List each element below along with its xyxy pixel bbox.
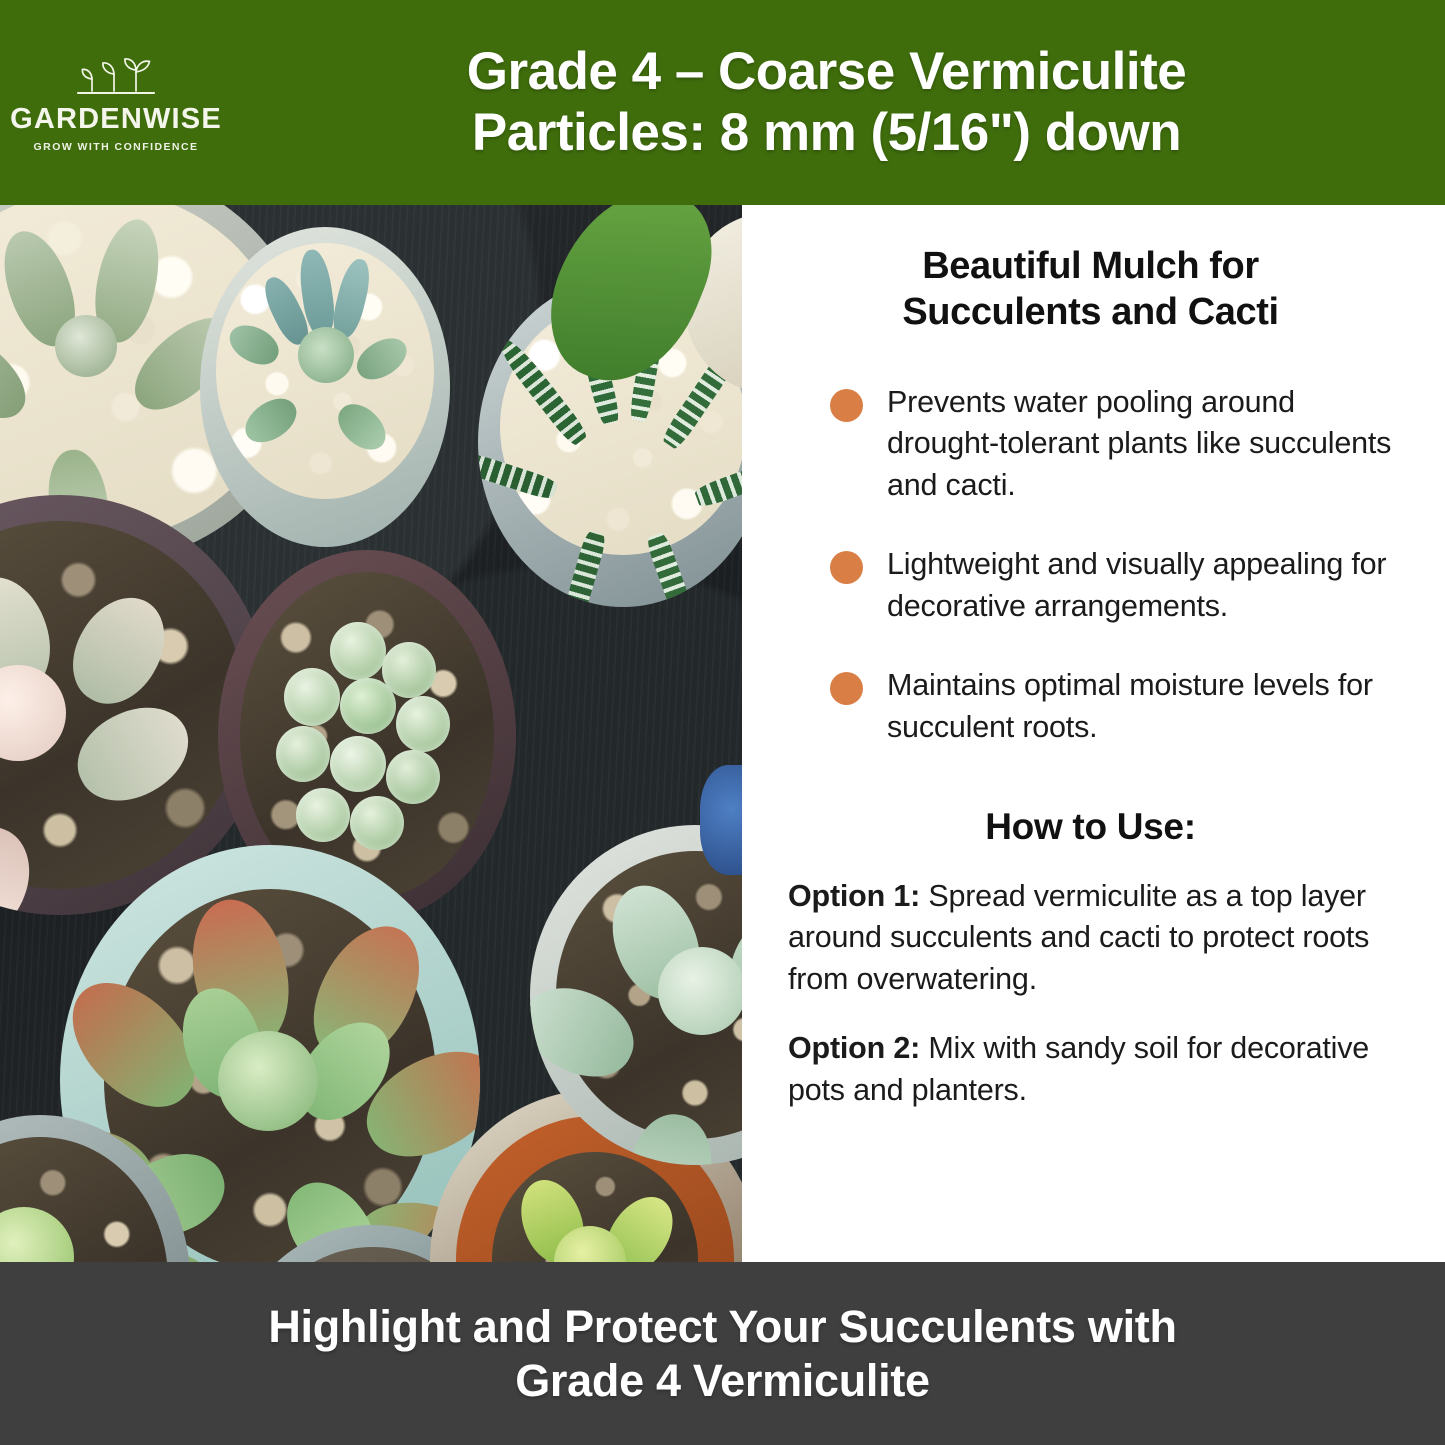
- header-title: Grade 4 – Coarse Vermiculite Particles: …: [232, 42, 1445, 163]
- pot-right-pale-echeveria: [530, 825, 742, 1165]
- brand-logo: GARDENWISE GROW WITH CONFIDENCE: [0, 53, 232, 153]
- sprout-leaves-icon: [62, 57, 170, 103]
- list-item: Maintains optimal moisture levels for su…: [788, 665, 1393, 748]
- option-1-label: Option 1:: [788, 879, 920, 913]
- header-title-line1: Grade 4 – Coarse Vermiculite: [467, 42, 1187, 101]
- footer-line2: Grade 4 Vermiculite: [268, 1354, 1176, 1408]
- header-banner: GARDENWISE GROW WITH CONFIDENCE Grade 4 …: [0, 0, 1445, 205]
- list-item: Prevents water pooling around drought-to…: [788, 382, 1393, 506]
- infographic-page: GARDENWISE GROW WITH CONFIDENCE Grade 4 …: [0, 0, 1445, 1445]
- panel-title-line1: Beautiful Mulch for: [922, 245, 1259, 287]
- bullet-text: Lightweight and visually appealing for d…: [887, 544, 1393, 627]
- footer-text: Highlight and Protect Your Succulents wi…: [208, 1300, 1236, 1408]
- blue-flower-accent: [700, 765, 742, 875]
- pot-bottom-left-rosettes: [0, 1115, 190, 1262]
- footer-line1: Highlight and Protect Your Succulents wi…: [268, 1301, 1176, 1352]
- how-to-use-title: How to Use:: [788, 806, 1393, 848]
- bullet-text: Maintains optimal moisture levels for su…: [887, 665, 1393, 748]
- list-item: Lightweight and visually appealing for d…: [788, 544, 1393, 627]
- option-2: Option 2: Mix with sandy soil for decora…: [788, 1028, 1393, 1111]
- header-title-line2: Particles: 8 mm (5/16") down: [232, 103, 1421, 163]
- option-2-label: Option 2:: [788, 1031, 920, 1065]
- panel-title: Beautiful Mulch for Succulents and Cacti: [788, 243, 1393, 336]
- brand-name: GARDENWISE: [10, 105, 222, 134]
- content-panel: Beautiful Mulch for Succulents and Cacti…: [742, 205, 1445, 1262]
- product-photo: [0, 205, 742, 1262]
- bullet-dot-icon: [830, 672, 863, 705]
- bullet-text: Prevents water pooling around drought-to…: [887, 382, 1393, 506]
- bullet-dot-icon: [830, 551, 863, 584]
- panel-title-line2: Succulents and Cacti: [902, 291, 1278, 333]
- benefits-list: Prevents water pooling around drought-to…: [788, 382, 1393, 748]
- option-1: Option 1: Spread vermiculite as a top la…: [788, 876, 1393, 1000]
- brand-tagline: GROW WITH CONFIDENCE: [34, 141, 199, 153]
- bullet-dot-icon: [830, 389, 863, 422]
- footer-banner: Highlight and Protect Your Succulents wi…: [0, 1262, 1445, 1445]
